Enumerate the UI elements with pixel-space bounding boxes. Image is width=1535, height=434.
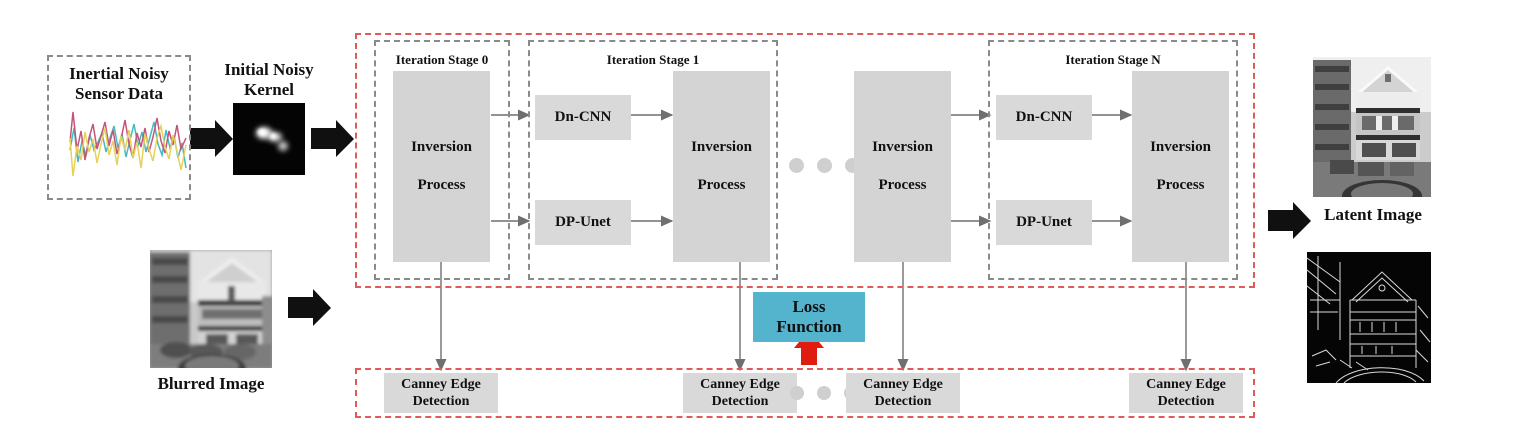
stage-n-inversion-process[interactable]: Inversion Process [1132, 71, 1229, 262]
kernel-label-line1: Initial Noisy [224, 60, 313, 79]
stage-1-inversion-line1: Inversion [691, 139, 752, 156]
stage-n-dp-unet-block[interactable]: DP-Unet [996, 200, 1092, 245]
stage-1-title-text: Iteration Stage 1 [607, 52, 699, 67]
sensor-data-label: Inertial Noisy Sensor Data [47, 64, 191, 104]
initial-noisy-kernel-image [233, 103, 305, 175]
stage-0-inversion-line2: Process [417, 177, 465, 194]
loss-line2: Function [776, 317, 841, 336]
canny-0-line2: Detection [413, 394, 470, 409]
latent-image-photo [1313, 57, 1431, 212]
stage-n-dn-cnn-block[interactable]: Dn-CNN [996, 95, 1092, 140]
blurred-image-photo [150, 250, 274, 382]
canny-2-line1: Canney Edge [863, 377, 943, 392]
middle-inversion-line2: Process [878, 177, 926, 194]
canny-3-line2: Detection [1158, 394, 1215, 409]
iteration-stage-1-title: Iteration Stage 1 [528, 52, 778, 67]
sensor-label-line1: Inertial Noisy [69, 64, 169, 83]
middle-inversion-line1: Inversion [872, 139, 933, 156]
blurred-image-label: Blurred Image [140, 374, 282, 394]
stage-0-inversion-line1: Inversion [411, 139, 472, 156]
canny-1-line2: Detection [712, 394, 769, 409]
sensor-label-line2: Sensor Data [75, 84, 163, 103]
ellipsis-dot-2 [817, 158, 832, 173]
stage-n-dp-unet-label: DP-Unet [1016, 213, 1072, 232]
arrow-sensor-to-kernel [190, 120, 233, 157]
loss-function-block[interactable]: Loss Function [753, 292, 865, 342]
latent-label-text: Latent Image [1324, 205, 1422, 224]
arrow-pipeline-to-output [1268, 202, 1311, 239]
stage-n-inversion-line2: Process [1156, 177, 1204, 194]
canny-edge-detection-2[interactable]: Canney Edge Detection [846, 373, 960, 413]
iteration-stage-0-title: Iteration Stage 0 [374, 52, 510, 67]
canny-edge-detection-0[interactable]: Canney Edge Detection [384, 373, 498, 413]
stage-1-dn-cnn-label: Dn-CNN [555, 108, 612, 127]
stage-n-dn-cnn-label: Dn-CNN [1016, 108, 1073, 127]
middle-inversion-process[interactable]: Inversion Process [854, 71, 951, 262]
arrow-kernel-to-pipeline [311, 120, 354, 157]
canny-ellipsis-dot-2 [817, 386, 831, 400]
stage-n-inversion-line1: Inversion [1150, 139, 1211, 156]
canny-edge-detection-3[interactable]: Canney Edge Detection [1129, 373, 1243, 413]
stage-1-dp-unet-label: DP-Unet [555, 213, 611, 232]
kernel-label: Initial Noisy Kernel [210, 60, 328, 100]
stage-1-dn-cnn-block[interactable]: Dn-CNN [535, 95, 631, 140]
arrow-blurred-to-pipeline [288, 289, 331, 326]
stage-1-inversion-line2: Process [697, 177, 745, 194]
canny-3-line1: Canney Edge [1146, 377, 1226, 392]
loss-line1: Loss [792, 297, 825, 316]
canny-2-line2: Detection [875, 394, 932, 409]
stage-0-title-text: Iteration Stage 0 [396, 52, 488, 67]
iteration-stage-n-title: Iteration Stage N [988, 52, 1238, 67]
ellipsis-dot-1 [789, 158, 804, 173]
edge-map-image [1307, 252, 1431, 383]
stage-0-inversion-process[interactable]: Inversion Process [393, 71, 490, 262]
stage-n-title-text: Iteration Stage N [1065, 52, 1160, 67]
kernel-label-line2: Kernel [244, 80, 294, 99]
canny-ellipsis-dot-1 [790, 386, 804, 400]
canny-0-line1: Canney Edge [401, 377, 481, 392]
canny-1-line1: Canney Edge [700, 377, 780, 392]
blurred-label-text: Blurred Image [158, 374, 265, 393]
stage-1-dp-unet-block[interactable]: DP-Unet [535, 200, 631, 245]
stage-1-inversion-process[interactable]: Inversion Process [673, 71, 770, 262]
pipeline-ellipsis-dots [789, 158, 860, 173]
canny-edge-detection-1[interactable]: Canney Edge Detection [683, 373, 797, 413]
latent-image-label: Latent Image [1308, 205, 1438, 225]
